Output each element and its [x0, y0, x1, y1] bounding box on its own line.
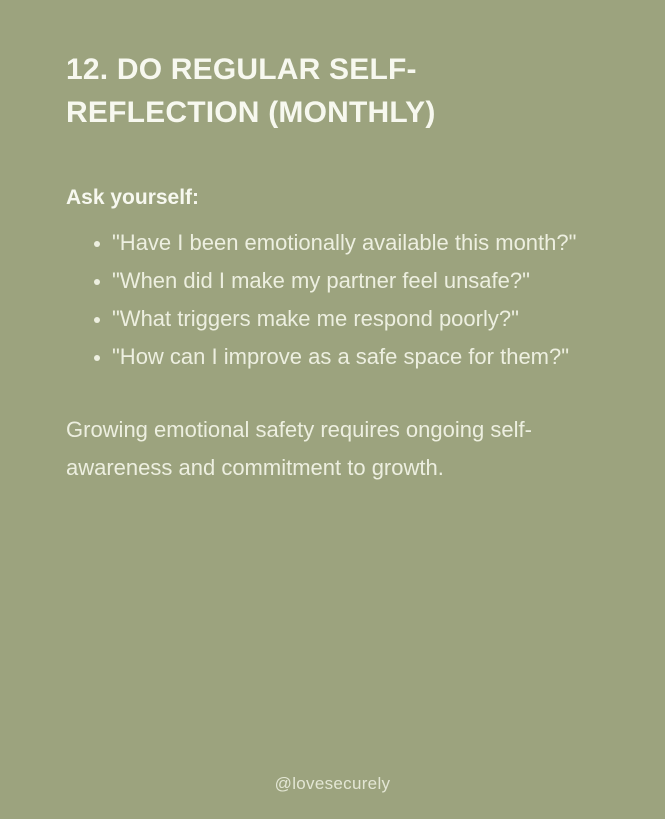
bullet-dot-icon	[94, 317, 100, 323]
list-item: "What triggers make me respond poorly?"	[66, 300, 594, 338]
list-item-label: "When did I make my partner feel unsafe?…	[112, 268, 530, 293]
list-item-label: "What triggers make me respond poorly?"	[112, 306, 519, 331]
list-item: "Have I been emotionally available this …	[66, 224, 594, 262]
bullet-dot-icon	[94, 241, 100, 247]
page-title: 12. Do Regular Self-Reflection (Monthly)	[66, 48, 486, 134]
list-item: "When did I make my partner feel unsafe?…	[66, 262, 594, 300]
bullet-dot-icon	[94, 279, 100, 285]
reflection-question-list: "Have I been emotionally available this …	[66, 212, 594, 376]
closing-paragraph: Growing emotional safety requires ongoin…	[66, 376, 566, 487]
list-item: "How can I improve as a safe space for t…	[66, 338, 594, 376]
list-item-label: "Have I been emotionally available this …	[112, 230, 576, 255]
slide-card: 12. Do Regular Self-Reflection (Monthly)…	[0, 0, 665, 819]
footer-handle: @lovesecurely	[0, 774, 665, 794]
section-subheading: Ask yourself:	[66, 134, 594, 212]
slide-content: 12. Do Regular Self-Reflection (Monthly)…	[66, 48, 594, 487]
list-item-label: "How can I improve as a safe space for t…	[112, 344, 569, 369]
bullet-dot-icon	[94, 355, 100, 361]
